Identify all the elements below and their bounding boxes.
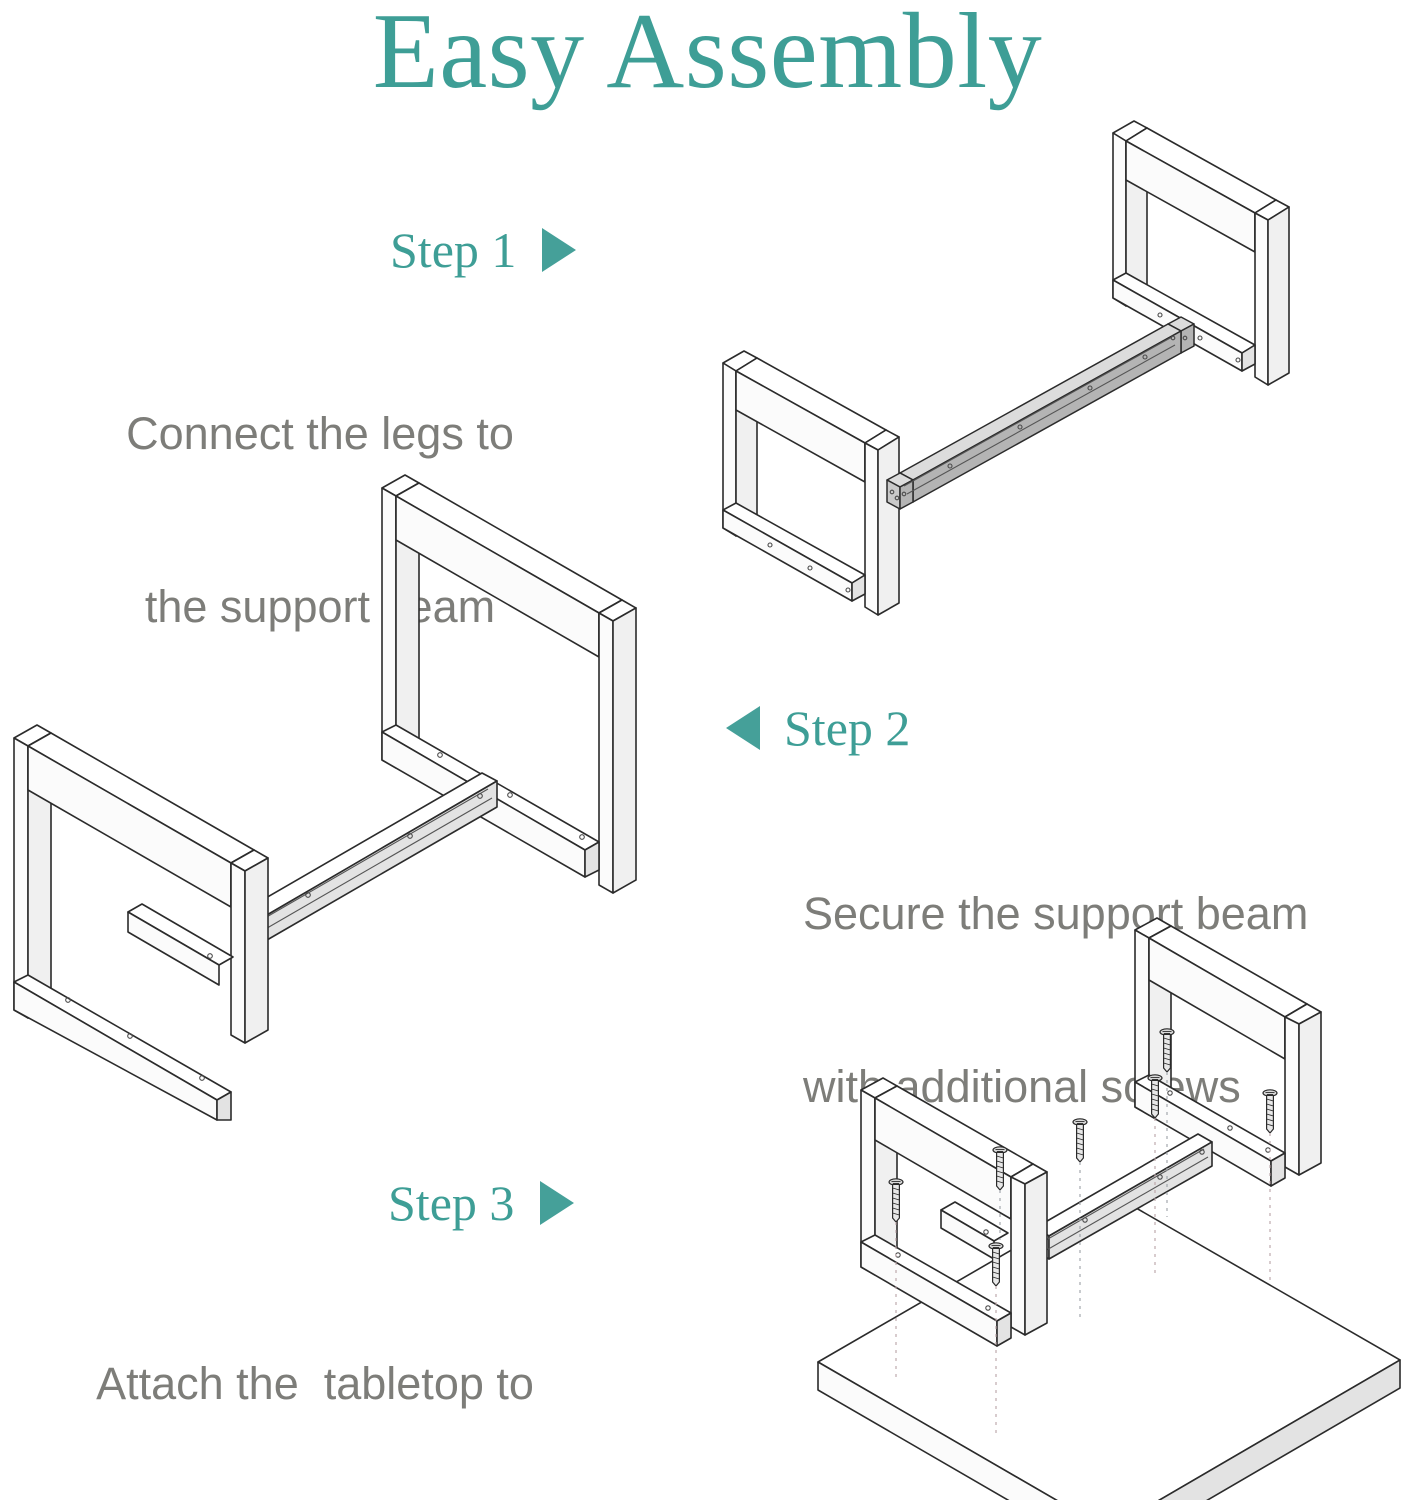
play-triangle-left-icon [726,706,760,750]
step-3-description: Attach the tabletop to the frame assembl… [0,1240,630,1500]
step-3-illustration [810,910,1415,1500]
step-2-label: Step 2 [726,703,910,753]
step-3-label: Step 3 [388,1178,574,1228]
tabletop [818,1193,1400,1500]
step-1-label-text: Step 1 [390,225,516,275]
back-leg-frame [1135,918,1321,1186]
step-2-label-text: Step 2 [784,703,910,753]
step-3-label-text: Step 3 [388,1178,514,1228]
support-beam-installed [252,773,497,940]
step-2-illustration [0,470,680,1050]
step-1-label: Step 1 [390,225,576,275]
step-1-description-line-1: Connect the legs to [0,405,640,463]
play-triangle-right-icon [542,228,576,272]
page-title: Easy Assembly [0,0,1415,111]
front-leg-frame [14,725,268,1120]
left-leg-frame [723,351,899,615]
play-triangle-right-icon [540,1181,574,1225]
screw-icon [1263,1090,1277,1133]
step-1-illustration [690,110,1280,590]
front-leg-frame [861,1078,1047,1346]
support-beam [887,317,1194,509]
step-3-description-line-1: Attach the tabletop to [0,1355,630,1413]
assembly-instructions-page: Easy Assembly Step 1 Connect the legs to… [0,0,1415,1500]
screw-icon [1073,1119,1087,1162]
